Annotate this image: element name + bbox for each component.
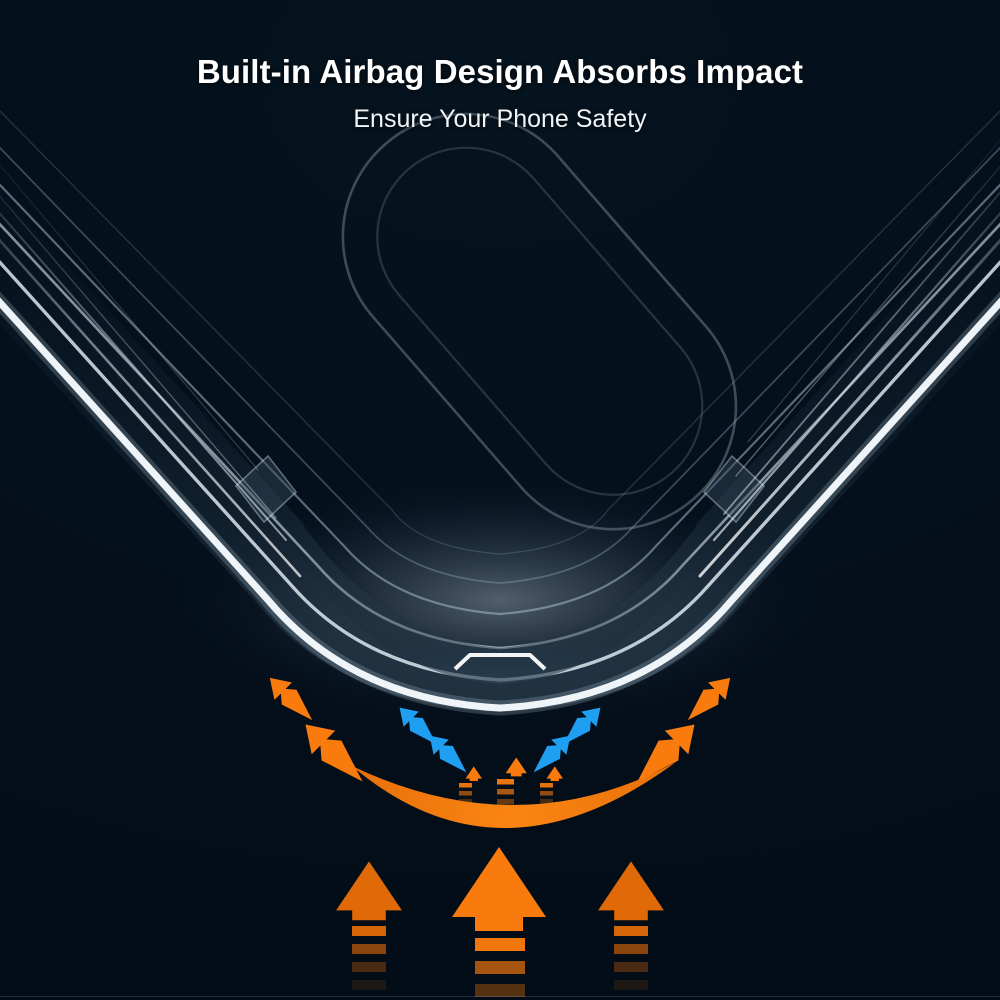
impact-arrow-right xyxy=(598,861,664,990)
inner-impact-arrow-left xyxy=(459,766,482,803)
camera-cutout-inner xyxy=(341,111,739,531)
bottom-divider xyxy=(0,996,1000,997)
product-marketing-image: Built-in Airbag Design Absorbs Impact En… xyxy=(0,0,1000,1000)
inner-impact-arrow-right-tail xyxy=(540,783,553,804)
impact-arrow-left-tail xyxy=(352,926,386,990)
inner-impact-arrow-left-tail xyxy=(459,783,472,804)
impact-arrow-right-tail xyxy=(614,926,648,990)
phone-case-illustration xyxy=(0,0,1000,1000)
inner-impact-arrow-center-tail xyxy=(497,779,514,815)
impact-arrow-center xyxy=(452,847,546,997)
inner-impact-arrow-right xyxy=(540,766,563,803)
impact-arrow-left xyxy=(336,861,402,990)
dispersion-arrow-right-lower xyxy=(534,736,571,773)
outward-arrow-right-near xyxy=(637,724,694,781)
outward-arrow-left-near xyxy=(305,724,362,781)
impact-arrow-center-tail xyxy=(475,938,525,997)
dispersion-arrow-left-lower xyxy=(430,736,467,773)
